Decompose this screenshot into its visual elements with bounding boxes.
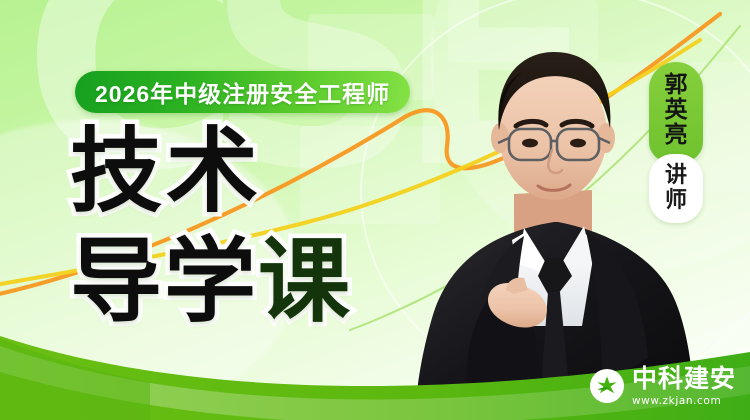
instructor-badge: 郭 英 亮 讲 师: [649, 62, 703, 223]
brand-url: www.zkjan.com: [632, 396, 736, 407]
headline-line-1: 技术: [70, 125, 352, 221]
course-subtitle-badge: 2026年中级注册安全工程师: [75, 71, 410, 113]
course-subtitle-text: 2026年中级注册安全工程师: [95, 75, 390, 109]
instructor-name-char-2: 英: [665, 97, 688, 122]
instructor-name-char-1: 郭: [665, 72, 688, 97]
brand-logo-text: 中科建安 www.zkjan.com: [632, 367, 736, 407]
headline-line-2-main: 导学: [70, 231, 258, 333]
instructor-role-pill: 讲 师: [649, 154, 703, 222]
instructor-name-pill: 郭 英 亮: [649, 62, 703, 162]
headline-line-2: 导学课: [70, 235, 352, 331]
brand-name: 中科建安: [632, 367, 736, 392]
instructor-role-char-1: 讲: [665, 163, 687, 187]
brand-logo[interactable]: 中科建安 www.zkjan.com: [590, 367, 736, 407]
compass-star-icon: [590, 369, 624, 403]
course-poster: C S E: [0, 0, 750, 420]
course-headline: 技术 导学课: [70, 125, 352, 330]
instructor-name-char-3: 亮: [665, 122, 688, 147]
headline-line-2-accent: 课: [258, 231, 352, 333]
instructor-role-char-2: 师: [665, 188, 687, 212]
